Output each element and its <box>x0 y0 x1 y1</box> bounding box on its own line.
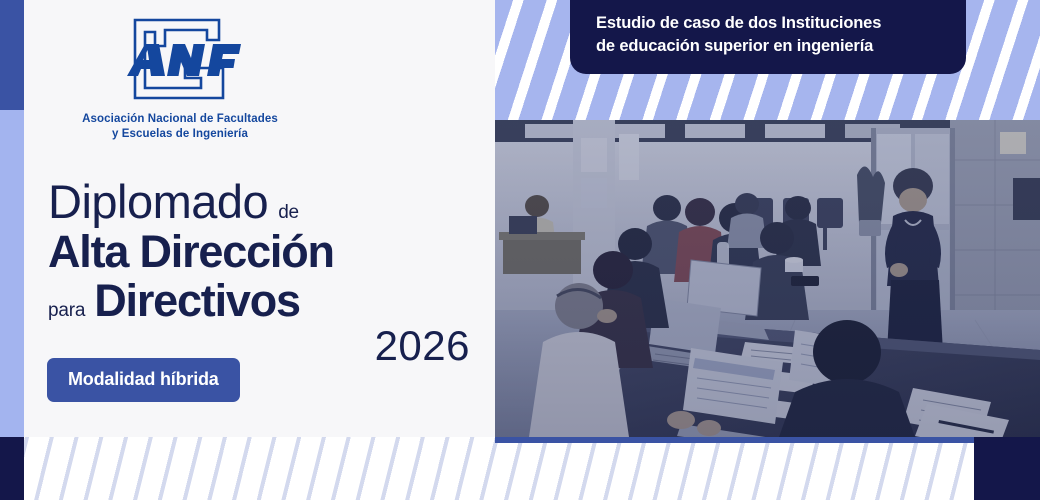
caption-line-2: de educación superior en ingeniería <box>596 35 940 58</box>
edge-segment-navy <box>0 437 24 500</box>
photo-illustration <box>495 120 1040 437</box>
headline-line-3: para Directivos <box>48 277 478 324</box>
edge-segment-blue <box>0 0 24 110</box>
tagline-line-2: y Escuelas de Ingeniería <box>82 127 278 142</box>
headline-block: Diplomado de Alta Dirección para Directi… <box>48 178 478 370</box>
diagonal-stripes-band-bottom <box>24 437 974 500</box>
anfei-tagline: Asociación Nacional de Facultades y Escu… <box>82 112 278 142</box>
caption-line-1: Estudio de caso de dos Instituciones <box>596 12 940 35</box>
headline-line-1: Diplomado de <box>48 178 478 226</box>
edge-segment-periwinkle <box>0 110 24 437</box>
headline-directivos: Directivos <box>94 277 300 324</box>
navy-corner-block <box>974 437 1040 500</box>
promotional-banner: Asociación Nacional de Facultades y Escu… <box>0 0 1040 500</box>
anfei-logo: Asociación Nacional de Facultades y Escu… <box>60 14 300 142</box>
headline-line-2: Alta Dirección <box>48 228 478 275</box>
headline-year: 2026 <box>375 322 470 369</box>
headline-diplomado: Diplomado <box>48 178 268 226</box>
tagline-line-1: Asociación Nacional de Facultades <box>82 112 278 127</box>
headline-alta-direccion: Alta Dirección <box>48 226 334 277</box>
headline-para: para <box>48 300 85 322</box>
modality-badge: Modalidad híbrida <box>47 358 240 402</box>
anfei-monogram-icon <box>115 14 245 106</box>
caption-banner: Estudio de caso de dos Instituciones de … <box>570 0 966 74</box>
headline-de: de <box>278 202 299 224</box>
photo-bottom-accent-strip <box>495 437 974 443</box>
left-edge-accent-bar <box>0 0 24 500</box>
event-photograph <box>495 120 1040 437</box>
